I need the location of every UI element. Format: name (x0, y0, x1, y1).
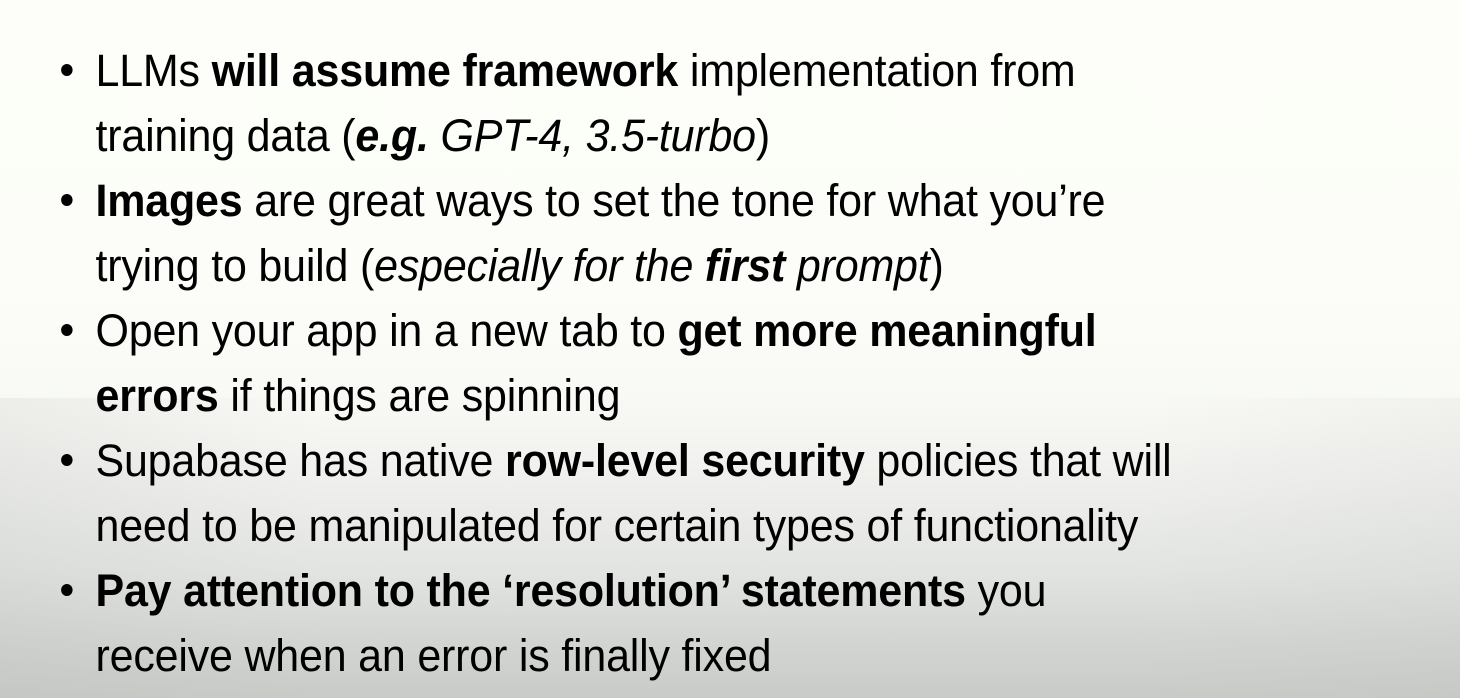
bullet-text-line: errors if things are spinning (96, 363, 1395, 428)
bullet-text-line: Supabase has native row-level security p… (96, 428, 1395, 493)
bullet-open-app-new-tab: Open your app in a new tab to get more m… (0, 298, 1394, 428)
text-run-italic: especially for the (374, 240, 705, 291)
text-run-regular: ) (756, 110, 770, 161)
text-run-regular: if things are spinning (219, 370, 621, 421)
text-run-regular: receive when an error is finally fixed (96, 630, 772, 681)
text-run-bold: errors (96, 370, 219, 421)
text-run-regular: need to be manipulated for certain types… (96, 500, 1139, 551)
bullet-images-set-tone: Images are great ways to set the tone fo… (0, 168, 1394, 298)
bullet-llms-assume-framework: LLMs will assume framework implementatio… (0, 38, 1394, 168)
bullet-dot-icon (61, 324, 72, 336)
text-run-bold-italic: first (705, 240, 785, 291)
bullet-text-line: Open your app in a new tab to get more m… (96, 298, 1395, 363)
text-run-italic: GPT-4, 3.5-turbo (429, 110, 756, 161)
bullet-dot-icon (61, 584, 72, 596)
text-run-bold-italic: e.g. (355, 110, 428, 161)
text-run-bold: will assume framework (212, 45, 679, 96)
bullet-text-line: need to be manipulated for certain types… (96, 493, 1395, 558)
bullet-dot-icon (61, 454, 72, 466)
bullet-text-line: receive when an error is finally fixed (96, 623, 1395, 688)
bullet-dot-icon (61, 64, 72, 76)
text-run-regular: implementation from (678, 45, 1075, 96)
text-run-bold: Pay attention to the ‘resolution’ statem… (96, 565, 966, 616)
text-run-bold: Images (96, 175, 243, 226)
text-run-regular: trying to build ( (96, 240, 375, 291)
bullet-text-line: Pay attention to the ‘resolution’ statem… (96, 558, 1395, 623)
slide-canvas: LLMs will assume framework implementatio… (0, 0, 1460, 698)
text-run-regular: policies that will (865, 435, 1172, 486)
text-run-bold: row-level security (505, 435, 865, 486)
bullet-list: LLMs will assume framework implementatio… (0, 0, 1460, 688)
text-run-regular: are great ways to set the tone for what … (242, 175, 1105, 226)
text-run-italic: prompt (785, 240, 929, 291)
bullet-text-line: training data (e.g. GPT-4, 3.5-turbo) (96, 103, 1395, 168)
text-run-regular: Open your app in a new tab to (96, 305, 678, 356)
bullet-resolution-statements: Pay attention to the ‘resolution’ statem… (0, 558, 1394, 688)
bullet-text-line: Images are great ways to set the tone fo… (96, 168, 1395, 233)
text-run-regular: you (966, 565, 1046, 616)
text-run-regular: training data ( (96, 110, 356, 161)
text-run-bold: get more meaningful (677, 305, 1096, 356)
bullet-text-line: trying to build (especially for the firs… (96, 233, 1395, 298)
text-run-regular: Supabase has native (96, 435, 506, 486)
text-run-regular: ) (930, 240, 944, 291)
bullet-supabase-row-level-security: Supabase has native row-level security p… (0, 428, 1394, 558)
bullet-dot-icon (61, 194, 72, 206)
text-run-regular: LLMs (96, 45, 212, 96)
bullet-text-line: LLMs will assume framework implementatio… (96, 38, 1395, 103)
